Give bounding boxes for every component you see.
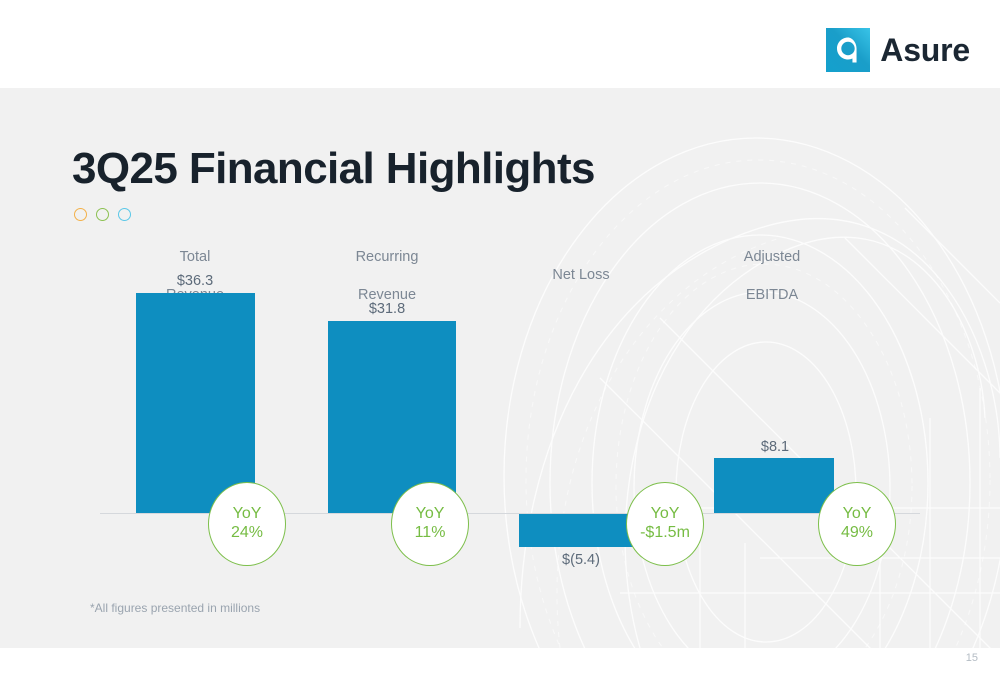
yoy-label: YoY: [233, 505, 262, 524]
yoy-value: 11%: [415, 524, 446, 543]
bar-value-adjusted-ebitda: $8.1: [716, 439, 834, 455]
footnote: *All figures presented in millions: [90, 601, 260, 615]
bar-value-net-loss: $(5.4): [522, 552, 640, 568]
bar-adjusted-ebitda: [714, 458, 834, 513]
bar-net-loss: [519, 514, 641, 547]
bar-label-line1: Adjusted: [713, 248, 831, 267]
bar-label-line2: EBITDA: [713, 286, 831, 305]
page-number: 15: [966, 652, 978, 664]
yoy-badge-adjusted-ebitda: YoY 49%: [818, 482, 896, 566]
financial-bar-chart: Total Revenue $36.3 Recurring Revenue $3…: [0, 0, 1000, 685]
yoy-value: 24%: [231, 524, 263, 543]
yoy-value: -$1.5m: [640, 524, 690, 543]
yoy-label: YoY: [651, 505, 680, 524]
bar-label-line1: Recurring: [328, 248, 446, 267]
bar-value-recurring-revenue: $31.8: [328, 301, 446, 317]
bar-label-line1: Net Loss: [522, 266, 640, 285]
yoy-badge-recurring-revenue: YoY 11%: [391, 482, 469, 566]
bar-label-line1: Total: [136, 248, 254, 267]
yoy-label: YoY: [416, 505, 445, 524]
yoy-label: YoY: [843, 505, 872, 524]
bar-label-net-loss: Net Loss: [522, 247, 640, 304]
slide: Asure: [0, 0, 1000, 685]
yoy-value: 49%: [841, 524, 873, 543]
yoy-badge-total-revenue: YoY 24%: [208, 482, 286, 566]
bar-label-adjusted-ebitda: Adjusted EBITDA: [713, 229, 831, 325]
bar-value-total-revenue: $36.3: [136, 273, 254, 289]
bar-total-revenue: [136, 293, 255, 513]
yoy-badge-net-loss: YoY -$1.5m: [626, 482, 704, 566]
